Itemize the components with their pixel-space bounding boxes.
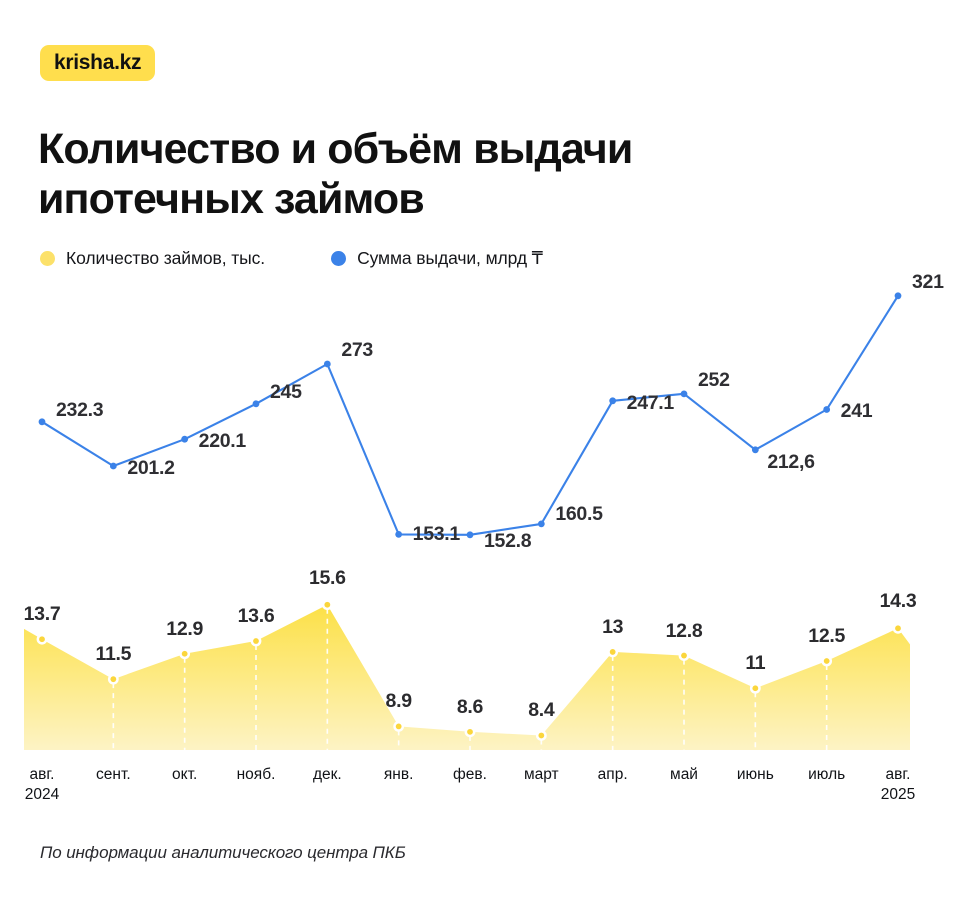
count-marker-ring [750, 683, 761, 694]
amount-marker [895, 292, 902, 299]
amount-label-9: 252 [698, 371, 730, 391]
count-label-0: 13.7 [24, 605, 61, 625]
amount-label-12: 321 [912, 273, 944, 293]
count-marker [824, 658, 830, 664]
amount-marker [823, 406, 830, 413]
count-marker [396, 723, 402, 729]
x-axis-tick-9: май [670, 765, 698, 785]
count-marker-ring [465, 726, 476, 737]
x-axis-tick-4: дек. [313, 765, 342, 785]
count-label-6: 8.6 [457, 698, 483, 718]
count-marker [895, 625, 901, 631]
x-axis-tick-2: окт. [172, 765, 197, 785]
count-marker [538, 733, 544, 739]
source-note: По информации аналитического центра ПКБ [40, 843, 406, 863]
count-marker-ring [893, 623, 904, 634]
amount-label-10: 212,6 [767, 453, 814, 473]
amount-label-8: 247.1 [627, 394, 674, 414]
count-marker [110, 676, 116, 682]
amount-line [42, 296, 898, 535]
count-marker [253, 638, 259, 644]
amount-marker [609, 397, 616, 404]
x-axis-tick-10: июнь [737, 765, 774, 785]
legend-item-count: Количество займов, тыс. [40, 248, 265, 269]
x-axis-tick-1: сент. [96, 765, 131, 785]
count-marker [39, 636, 45, 642]
count-marker [681, 653, 687, 659]
count-label-12: 14.3 [880, 592, 917, 612]
legend-label-count: Количество займов, тыс. [66, 248, 265, 269]
x-axis-tick-8: апр. [598, 765, 628, 785]
x-axis-tick-5: янв. [384, 765, 414, 785]
amount-marker [253, 400, 260, 407]
legend-item-amount: Сумма выдачи, млрд ₸ [331, 248, 543, 269]
amount-label-0: 232.3 [56, 401, 103, 421]
amount-marker [324, 361, 331, 368]
count-area [24, 605, 910, 750]
count-label-2: 12.9 [166, 620, 203, 640]
amount-label-11: 241 [841, 402, 873, 422]
count-marker-ring [607, 647, 618, 658]
amount-markers [39, 292, 902, 538]
krisha-logo: krisha.kz [40, 45, 155, 81]
amount-marker [110, 463, 117, 470]
count-label-11: 12.5 [808, 627, 845, 647]
amount-label-5: 153.1 [413, 525, 460, 545]
count-marker [467, 729, 473, 735]
amount-label-4: 273 [341, 341, 373, 361]
count-label-3: 13.6 [238, 607, 275, 627]
count-label-4: 15.6 [309, 569, 346, 589]
x-axis-tick-11: июль [808, 765, 845, 785]
legend-label-amount: Сумма выдачи, млрд ₸ [357, 248, 543, 269]
x-axis-tick-6: фев. [453, 765, 487, 785]
amount-label-7: 160.5 [555, 505, 602, 525]
count-marker [182, 651, 188, 657]
x-axis: авг. 2024сент.окт.нояб.дек.янв.фев.марта… [0, 765, 963, 825]
amount-marker [538, 520, 545, 527]
amount-marker [39, 418, 46, 425]
count-marker-ring [179, 648, 190, 659]
amount-marker [467, 531, 474, 538]
count-label-10: 11 [745, 654, 765, 674]
count-marker [610, 649, 616, 655]
page-title: Количество и объём выдачи ипотечных займ… [38, 125, 828, 225]
amount-marker [752, 446, 759, 453]
count-label-9: 12.8 [666, 622, 703, 642]
count-label-5: 8.9 [386, 692, 412, 712]
count-marker [324, 602, 330, 608]
x-axis-tick-7: март [524, 765, 559, 785]
x-axis-tick-0: авг. 2024 [25, 765, 59, 805]
area-gridlines [113, 609, 826, 750]
count-marker-ring [536, 730, 547, 741]
amount-label-1: 201.2 [127, 459, 174, 479]
count-label-8: 13 [602, 618, 623, 638]
count-label-1: 11.5 [95, 645, 131, 665]
count-marker-ring [37, 634, 48, 645]
count-marker-ring [108, 674, 119, 685]
chart-legend: Количество займов, тыс. Сумма выдачи, мл… [40, 248, 543, 269]
count-marker-ring [251, 636, 262, 647]
legend-swatch-amount-icon [331, 251, 346, 266]
count-marker-ring [821, 656, 832, 667]
count-marker-ring [679, 650, 690, 661]
count-label-7: 8.4 [528, 701, 554, 721]
amount-label-2: 220.1 [199, 432, 246, 452]
amount-marker [181, 436, 188, 443]
count-marker-ring [393, 721, 404, 732]
count-marker-ring [322, 599, 333, 610]
amount-marker [395, 531, 402, 538]
x-axis-tick-3: нояб. [237, 765, 276, 785]
x-axis-tick-12: авг. 2025 [881, 765, 915, 805]
amount-label-6: 152.8 [484, 532, 531, 552]
legend-swatch-count-icon [40, 251, 55, 266]
amount-label-3: 245 [270, 383, 302, 403]
count-marker [752, 685, 758, 691]
amount-marker [681, 390, 688, 397]
